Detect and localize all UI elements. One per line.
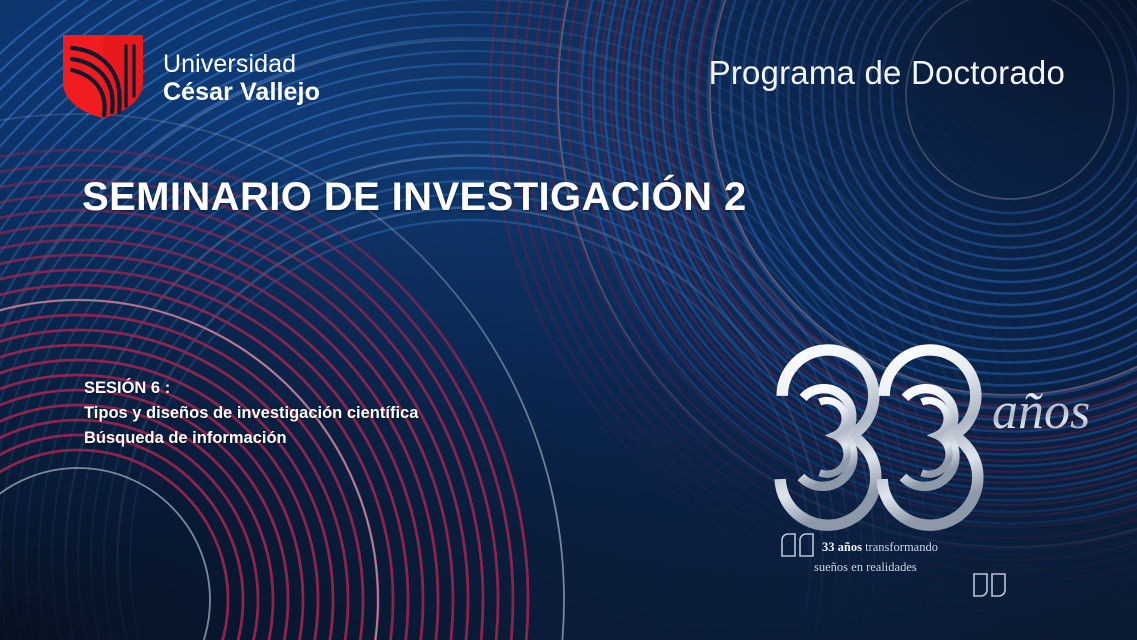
- anniversary-unit-label: años: [992, 383, 1090, 440]
- tagline-line2-text: sueños en realidades: [814, 560, 917, 574]
- logo-line-cesar-vallejo: César Vallejo: [163, 78, 320, 106]
- quote-open-icon: [780, 532, 816, 558]
- session-topic-1: Tipos y diseños de investigación científ…: [84, 401, 418, 426]
- presentation-slide: Universidad César Vallejo Programa de Do…: [0, 0, 1137, 640]
- session-topic-2: Búsqueda de información: [84, 426, 418, 451]
- logo-line-universidad: Universidad: [163, 50, 320, 78]
- anniversary-tagline-line2: sueños en realidades: [814, 558, 917, 576]
- ucv-logo: Universidad César Vallejo: [60, 32, 320, 120]
- tagline-rest: transformando: [862, 540, 938, 554]
- anniversary-33-icon: años: [770, 336, 1115, 536]
- session-number: SESIÓN 6 :: [84, 376, 418, 401]
- ucv-shield-icon: [60, 32, 146, 120]
- program-label: Programa de Doctorado: [709, 54, 1065, 92]
- anniversary-emblem: años 33 años transformando sueños en rea…: [770, 336, 1115, 586]
- session-info: SESIÓN 6 : Tipos y diseños de investigac…: [84, 376, 418, 451]
- slide-title: SEMINARIO DE INVESTIGACIÓN 2: [82, 175, 747, 220]
- tagline-bold: 33 años: [822, 540, 862, 554]
- anniversary-tagline-line1: 33 años transformando: [822, 538, 938, 556]
- quote-close-icon: [972, 572, 1008, 598]
